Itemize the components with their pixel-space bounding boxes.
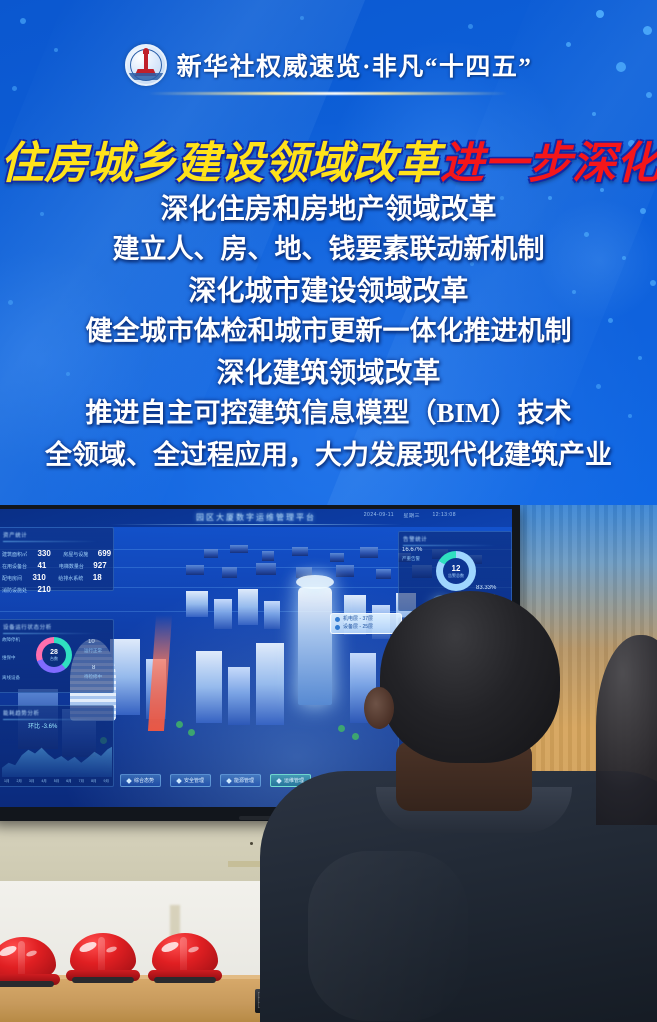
nav-item-energy-label: 能源管理	[234, 777, 254, 784]
header-title: 新华社权威速览·非凡“十四五”	[177, 47, 533, 83]
screen-meta-date: 2024-09-11	[364, 512, 394, 518]
device-status-left-label-1: 故障停机	[2, 637, 20, 643]
city-block	[228, 667, 250, 725]
diamond-icon	[226, 778, 232, 784]
alarm-donut-label: 告警总数	[448, 573, 464, 579]
city-block	[186, 591, 208, 617]
device-status-right-value-1: 10	[88, 639, 95, 645]
city-block	[196, 651, 222, 723]
page-title-red: 进一步深化	[440, 139, 657, 188]
asset-row-4-value: 210	[37, 585, 50, 594]
landmark-tower-cap	[296, 575, 334, 589]
screen-title-rule	[110, 524, 402, 525]
bg-dot	[596, 10, 604, 18]
page-title-yellow: 住房城乡建设领域改革	[0, 139, 440, 188]
city-block	[292, 547, 308, 556]
body-line-6: 推进自主可控建筑信息模型（BIM）技术	[0, 400, 657, 427]
tree	[188, 729, 195, 736]
person-ear	[364, 687, 394, 729]
alarm-donut-value: 12	[452, 564, 461, 573]
city-block	[376, 569, 391, 579]
header-divider	[148, 92, 508, 95]
device-status-right-label-2: 待检修中	[84, 674, 102, 680]
nav-item-safety-label: 安全管理	[184, 777, 204, 784]
person-shoulder-fold	[308, 851, 468, 1021]
city-block	[256, 563, 276, 575]
body-line-2: 建立人、房、地、钱要素联动新机制	[0, 236, 657, 263]
device-status-donut: 28 台数	[36, 637, 72, 673]
asset-row-4: 消防设施处 210	[2, 579, 51, 597]
bg-dot	[20, 18, 26, 24]
body-line-4: 健全城市体检和城市更新一体化推进机制	[0, 318, 657, 345]
city-block	[186, 565, 204, 575]
diamond-icon	[176, 778, 182, 784]
panel-device-status-title: 设备运行状态分析	[0, 620, 113, 634]
xinhua-logo-icon	[125, 44, 167, 86]
bg-dot	[646, 92, 652, 98]
bg-dot	[300, 16, 304, 20]
energy-axis-tick: 2月	[16, 779, 21, 783]
hard-hat	[0, 937, 60, 987]
screen-meta-time: 12:13:08	[433, 512, 456, 518]
nav-item-overview[interactable]: 综合态势	[120, 774, 161, 787]
energy-axis-tick: 7月	[79, 779, 84, 783]
asset-row-3-value2: 18	[93, 573, 102, 582]
diamond-icon	[126, 778, 132, 784]
panel-energy-trend-title: 能耗趋势分析	[0, 706, 113, 720]
nav-item-energy[interactable]: 能源管理	[220, 774, 261, 787]
asset-row-4-label: 消防设施处	[2, 588, 27, 594]
body-line-7: 全领域、全过程应用，大力发展现代化建筑产业	[0, 442, 657, 469]
screen-meta-weekday: 星期三	[403, 512, 420, 519]
body-line-3: 深化城市建设领域改革	[0, 278, 657, 306]
hard-hat	[148, 933, 222, 983]
energy-axis-tick: 4月	[41, 779, 46, 783]
energy-axis-labels: 1月 2月 3月 4月 5月 6月 7月 8月 9月	[4, 779, 109, 784]
energy-axis-tick: 5月	[54, 779, 59, 783]
city-block	[204, 549, 218, 558]
nav-item-overview-label: 综合态势	[134, 777, 154, 784]
bg-dot	[468, 24, 473, 29]
alarm-pct-top-label: 严重告警	[402, 556, 420, 562]
device-status-donut-label: 台数	[50, 656, 58, 662]
device-status-right-value-2: 8	[92, 665, 95, 671]
energy-axis-tick: 3月	[29, 779, 34, 783]
alarm-pct-top: 16.67%	[402, 547, 422, 553]
body-text-block: 深化住房和房地产领域改革 建立人、房、地、钱要素联动新机制 深化城市建设领域改革…	[0, 196, 657, 484]
photo-area: 园区大厦数字运维管理平台 2024-09-11 星期三 12:13:08 资产统…	[0, 505, 657, 1022]
city-block	[262, 551, 274, 561]
nav-item-safety[interactable]: 安全管理	[170, 774, 211, 787]
energy-trend-subtitle: 环比 -3.6%	[28, 721, 57, 730]
bg-dot	[12, 86, 17, 91]
panel-alarm-stats-title: 告警统计	[399, 532, 511, 546]
city-block	[230, 545, 248, 553]
tree	[176, 721, 183, 728]
energy-axis-tick: 9月	[104, 779, 109, 783]
poster-root: 新华社权威速览·非凡“十四五” 住房城乡建设领域改革进一步深化 深化住房和房地产…	[0, 0, 657, 1022]
alarm-donut: 12 告警总数	[436, 551, 476, 591]
energy-axis-tick: 8月	[91, 779, 96, 783]
device-status-left-label-3: 离线设备	[2, 675, 20, 681]
bg-dot	[592, 112, 596, 116]
hard-hat	[66, 933, 140, 983]
city-block	[360, 547, 378, 558]
wall-strip	[228, 861, 262, 867]
wall-hole	[250, 842, 253, 845]
city-block	[214, 599, 232, 629]
city-block	[222, 567, 237, 578]
asset-row-3-label2: 给排水系统	[58, 576, 83, 582]
city-block	[238, 589, 258, 625]
device-status-left-label-2: 维保中	[2, 655, 16, 661]
person-head	[380, 591, 560, 763]
body-line-1: 深化住房和房地产领域改革	[0, 196, 657, 224]
city-block	[330, 553, 344, 562]
device-status-right-label-1: 运行正常	[84, 648, 102, 654]
body-line-5: 深化建筑领域改革	[0, 360, 657, 388]
poster-header: 新华社权威速览·非凡“十四五”	[0, 44, 657, 86]
device-status-donut-value: 28	[50, 649, 58, 656]
energy-axis-tick: 1月	[4, 779, 9, 783]
energy-axis-tick: 6月	[66, 779, 71, 783]
page-title: 住房城乡建设领域改革进一步深化	[0, 127, 657, 191]
city-block	[336, 565, 354, 577]
panel-asset-stats-title: 资产统计	[0, 528, 113, 542]
bg-dot	[643, 26, 652, 35]
